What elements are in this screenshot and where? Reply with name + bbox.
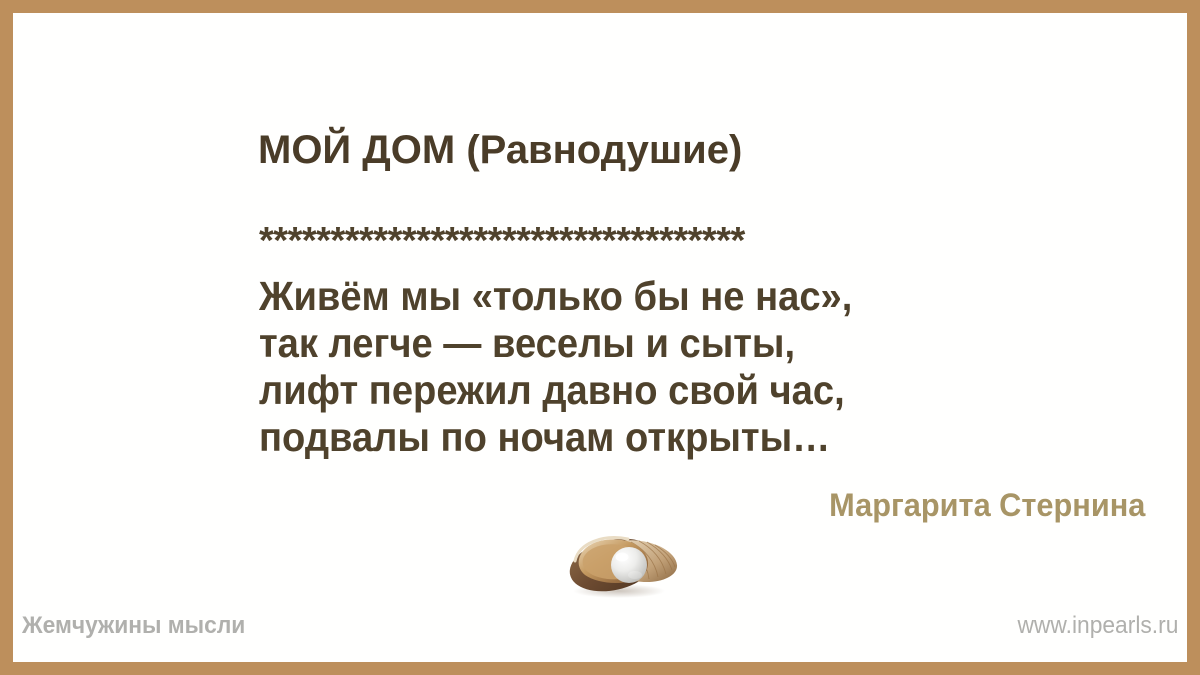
- card-inner: МОЙ ДОМ (Равнодушие) *******************…: [13, 13, 1187, 662]
- star-divider: **********************************: [259, 222, 745, 260]
- quote-card: МОЙ ДОМ (Равнодушие) *******************…: [0, 0, 1200, 675]
- oyster-shell-with-pearl-icon: [549, 519, 689, 599]
- poem-line: Живём мы «только бы не нас»,: [259, 273, 966, 320]
- author-name: Маргарита Стернина: [829, 487, 1145, 524]
- poem-line: подвалы по ночам открыты…: [259, 414, 966, 461]
- site-tagline: Жемчужины мысли: [22, 612, 245, 640]
- poem-body: Живём мы «только бы не нас», так легче —…: [259, 273, 1019, 461]
- site-url[interactable]: www.inpearls.ru: [1017, 612, 1178, 640]
- poem-line: лифт пережил давно свой час,: [259, 367, 966, 414]
- page-title: МОЙ ДОМ (Равнодушие): [258, 127, 742, 173]
- poem-line: так легче — веселы и сыты,: [259, 320, 966, 367]
